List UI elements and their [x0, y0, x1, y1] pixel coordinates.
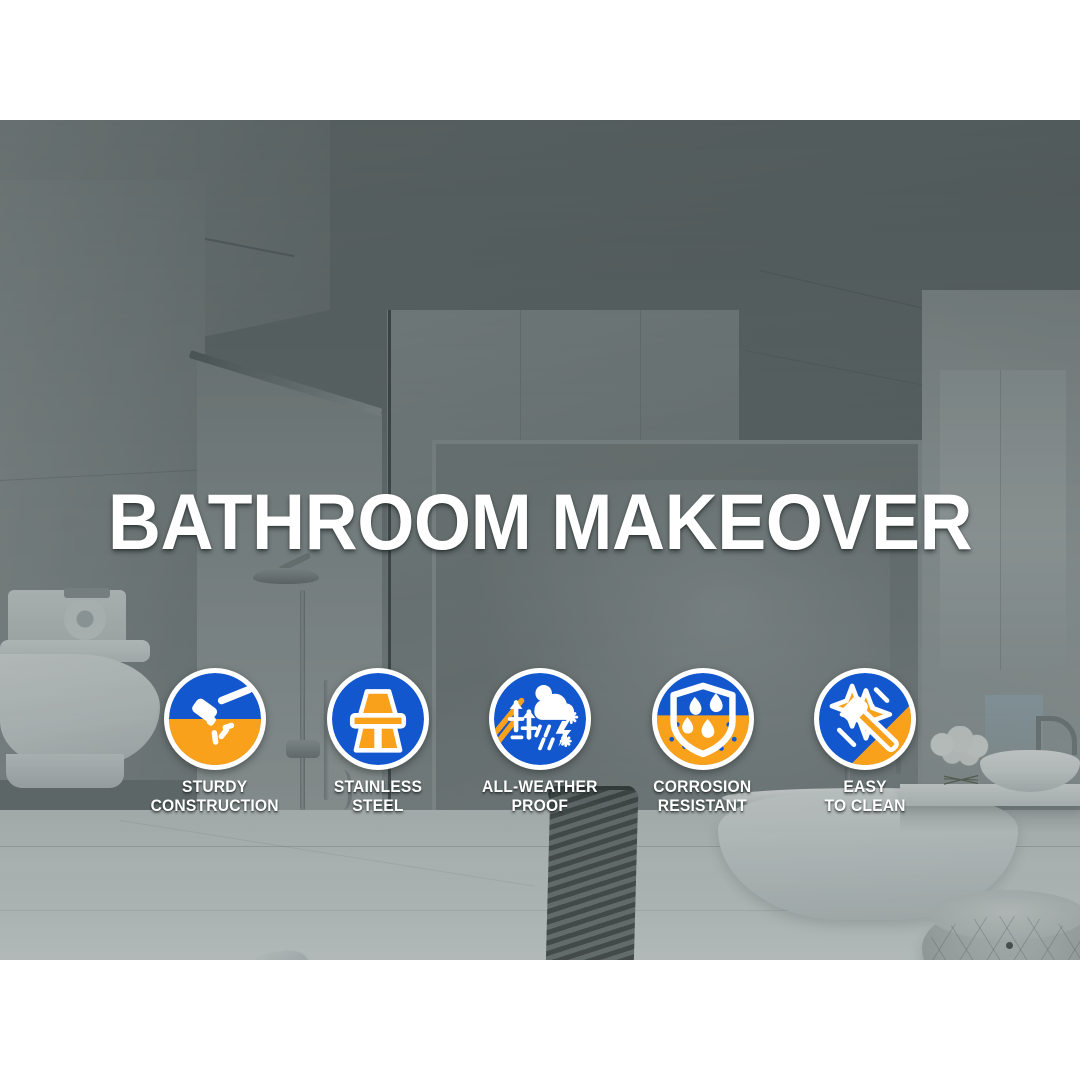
badge-all-weather-proof[interactable] [489, 668, 591, 770]
feature-label: ALL-WEATHER PROOF [482, 777, 598, 815]
squeegee-icon [819, 673, 911, 765]
feature-label: STAINLESS STEEL [333, 777, 421, 815]
page-title: BATHROOM MAKEOVER [38, 483, 1042, 561]
bottom-letterbox-bar [0, 960, 1080, 1080]
feature-all-weather-proof[interactable]: ALL-WEATHER PROOF [465, 668, 615, 815]
feature-badge-row: STURDY CONSTRUCTION STAINLESS STEEL [140, 668, 940, 815]
weather-icon [494, 673, 586, 765]
hammer-icon [169, 673, 261, 765]
feature-label: STURDY CONSTRUCTION [151, 777, 279, 815]
feature-stainless-steel[interactable]: STAINLESS STEEL [303, 668, 453, 815]
badge-sturdy-construction[interactable] [164, 668, 266, 770]
badge-stainless-steel[interactable] [327, 668, 429, 770]
feature-label: CORROSION RESISTANT [653, 777, 751, 815]
badge-corrosion-resistant[interactable] [652, 668, 754, 770]
feature-easy-to-clean[interactable]: EASY TO CLEAN [790, 668, 940, 815]
anvil-icon [332, 673, 424, 765]
feature-sturdy-construction[interactable]: STURDY CONSTRUCTION [140, 668, 290, 815]
bathroom-makeover-banner: BATHROOM MAKEOVER STUR [0, 0, 1080, 1080]
feature-label: EASY TO CLEAN [824, 777, 905, 815]
shield-icon [657, 673, 749, 765]
badge-easy-to-clean[interactable] [814, 668, 916, 770]
feature-corrosion-resistant[interactable]: CORROSION RESISTANT [628, 668, 778, 815]
top-letterbox-bar [0, 0, 1080, 120]
